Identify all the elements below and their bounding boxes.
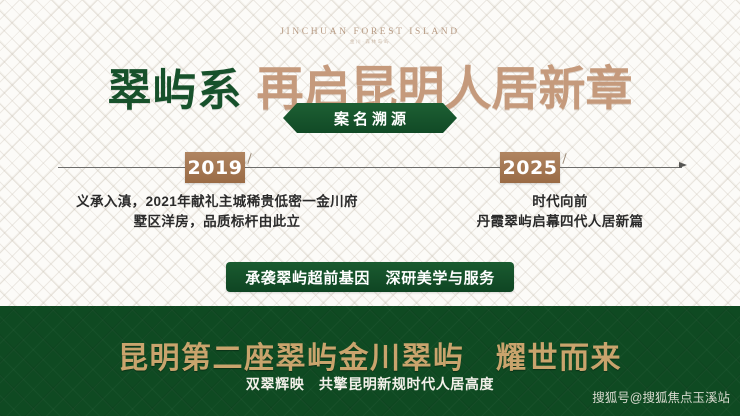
tagline-pill: 承袭翠屿超前基因 深研美学与服务 [226, 262, 514, 292]
watermark-label: 搜狐号@搜狐焦点玉溪站 [592, 387, 730, 406]
section-ribbon-label: 案名溯源 [330, 108, 410, 129]
poster-root: JINCHUAN FOREST ISLAND 金川·森林岛屿 翠屿系 再启昆明人… [0, 0, 740, 416]
timeline-entry-line1: 义承入滇，2021年献礼主城稀贵低密一金川府 [62, 192, 372, 212]
timeline-year-label: 2025 [503, 157, 558, 179]
footer-banner: 昆明第二座翠屿金川翠屿 耀世而来 双翠辉映 共擎昆明新规时代人居高度 搜狐号@搜… [0, 306, 740, 416]
timeline-arrow-icon [679, 162, 687, 168]
timeline-year-badge-2025: 2025 [500, 152, 560, 183]
timeline-entry-line2: 丹霞翠屿启幕四代人居新篇 [400, 212, 720, 232]
timeline-axis [58, 167, 682, 168]
page-title-lead: 翠屿系 [108, 54, 243, 118]
timeline-entry-2025-text: 时代向前 丹霞翠屿启幕四代人居新篇 [400, 192, 720, 232]
timeline-year-badge-2019: 2019 [185, 152, 245, 183]
section-ribbon-badge: 案名溯源 [283, 103, 457, 133]
timeline-entry-2019-text: 义承入滇，2021年献礼主城稀贵低密一金川府 墅区洋房，品质标杆由此立 [62, 192, 372, 232]
tagline-pill-label: 承袭翠屿超前基因 深研美学与服务 [245, 267, 495, 288]
footer-title: 昆明第二座翠屿金川翠屿 耀世而来 [0, 333, 740, 377]
timeline-year-label: 2019 [188, 157, 243, 179]
timeline-entry-line1: 时代向前 [400, 192, 720, 212]
timeline-entry-line2: 墅区洋房，品质标杆由此立 [62, 212, 372, 232]
